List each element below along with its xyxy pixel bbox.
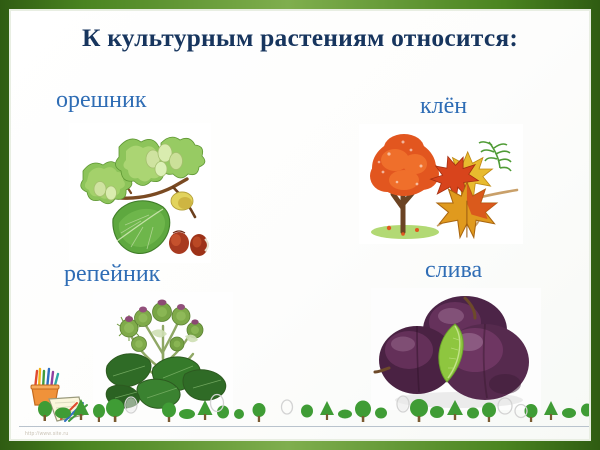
option-label-hazel[interactable]: орешник [56,87,146,114]
page-title: К культурным растениям относится: [11,23,589,53]
slide-frame: К культурным растениям относится: орешни… [0,0,600,450]
option-image-hazel[interactable] [69,123,211,263]
option-label-burdock[interactable]: репейник [64,261,160,288]
option-label-plum[interactable]: слива [425,257,482,284]
slide-canvas: К культурным растениям относится: орешни… [11,11,589,439]
watermark-text: http://www.site.ru [25,431,68,437]
tree-row-decoration [11,391,589,425]
option-image-maple[interactable] [359,124,523,244]
slide-inner-border: К культурным растениям относится: орешни… [9,9,591,441]
option-label-maple[interactable]: клён [420,93,467,120]
ground-line [19,426,591,427]
